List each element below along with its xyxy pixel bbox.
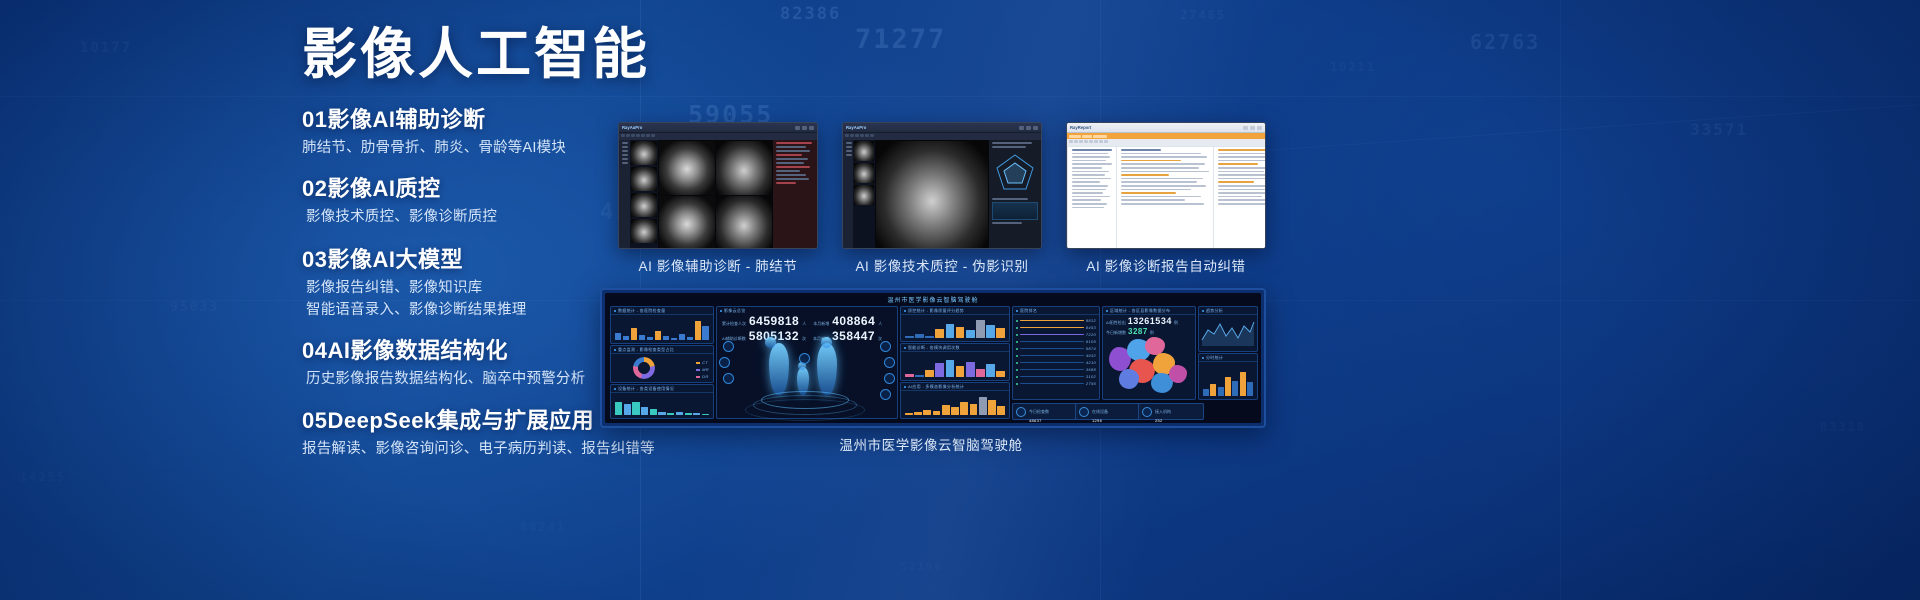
hospital-icon (1142, 407, 1152, 417)
feature-label-01: 影像AI辅助诊断 (327, 107, 485, 132)
dash-card-multimodal[interactable]: AI应用 - 多模态影像分析统计 (900, 382, 1010, 419)
radar-chart-icon (992, 151, 1038, 195)
hologram-adult-left (769, 343, 789, 395)
device-icon (1079, 407, 1089, 417)
ct-image-grid-1[interactable] (658, 140, 773, 249)
bg-digit: 52190 (900, 560, 943, 573)
ai-findings-panel-1[interactable] (773, 140, 817, 249)
app-toolbar-1[interactable] (619, 133, 817, 140)
bg-digit: 03318 (1820, 420, 1866, 434)
card-title: 设备统计 - 各类设备使用情况 (618, 386, 674, 392)
report-toolbar-3[interactable] (1067, 139, 1265, 146)
window-buttons-3[interactable] (1243, 126, 1262, 130)
bg-digit: 88241 (520, 520, 566, 534)
card-title: 医院排名 (1020, 308, 1037, 314)
worklist-panel-3[interactable] (1068, 147, 1116, 249)
card-header: 数据统计 - 各医院检查量 (611, 307, 713, 315)
bg-digit: 95033 (170, 300, 219, 315)
card-header: 重点监测 - 影像检查类型占比 (611, 346, 713, 354)
bg-digit: 10177 (80, 40, 132, 56)
bg-digit: 10211 (1330, 60, 1376, 74)
window-buttons-2[interactable] (1019, 126, 1038, 130)
kpi-value: 13261534 (1128, 316, 1172, 326)
card-title: 区域统计 - 各区县影像数据分布 (1110, 308, 1170, 314)
footer-stat-3[interactable]: 接入机构 252 (1138, 403, 1204, 420)
dash-card-exam-type-share[interactable]: 重点监测 - 影像检查类型占比 CT MR DR (610, 345, 714, 383)
list-item[interactable]: 3102 (1013, 373, 1099, 380)
card-header: 影像云总览 (717, 307, 897, 314)
card-header: 医院排名 (1013, 307, 1099, 315)
footer-stat-1[interactable]: 今日检查数 48637 (1012, 403, 1078, 420)
card-title: AI应用 - 多模态影像分析统计 (908, 384, 964, 390)
screenshot-caption-2: AI 影像技术质控 - 伪影识别 (842, 255, 1042, 275)
card-header: 区域统计 - 各区县影像数据分布 (1103, 307, 1195, 315)
app-logo-2: RayAuPro (846, 125, 866, 130)
footer-stat-value: 48637 (1029, 418, 1049, 423)
app-logo-1: RayAuPro (622, 125, 642, 130)
hologram-adult-right (817, 343, 837, 395)
footer-stat-label: 接入机构 (1155, 409, 1171, 414)
feature-label-04: AI影像数据结构化 (327, 338, 508, 363)
ai-kpi-row-2: 今日新增数 3287 例 (1103, 327, 1195, 336)
qc-analysis-panel-2[interactable] (989, 140, 1041, 249)
page-title: 影像人工智能 (302, 26, 722, 82)
list-item[interactable]: 5874 (1013, 345, 1099, 352)
screenshot-caption-3: AI 影像诊断报告自动纠错 (1066, 255, 1266, 275)
series-thumbnails-2[interactable] (853, 140, 875, 249)
bg-digit: 33571 (1690, 120, 1748, 139)
feature-number-03: 03 (302, 247, 327, 272)
kpi-label: 今日新增数 (1106, 330, 1126, 336)
ct-slice-3d[interactable] (716, 196, 772, 249)
screenshot-image-2: RayAuPro (842, 122, 1042, 249)
ct-slice-sagittal[interactable] (659, 196, 715, 249)
screenshot-card-1[interactable]: RayAuPro (618, 122, 818, 249)
kpi-label: 累计检查人次 (722, 321, 746, 327)
kpi-value: 3287 (1128, 327, 1148, 336)
correction-panel-3[interactable] (1214, 147, 1266, 249)
feature-number-04: 04 (302, 338, 327, 363)
card-title: 重点监测 - 影像检查类型占比 (618, 347, 674, 353)
dash-card-secondary-bars[interactable]: 分时统计 (1198, 353, 1258, 400)
metric-icon-4[interactable] (880, 341, 891, 352)
list-item[interactable]: 8453 (1013, 324, 1099, 331)
app-titlebar-1: RayAuPro (619, 123, 817, 133)
window-buttons-1[interactable] (795, 126, 814, 130)
bar-chart (905, 318, 1005, 338)
list-item[interactable]: 2756 (1013, 380, 1099, 387)
bar-chart (905, 355, 1005, 377)
footer-stat-label: 今日检查数 (1029, 409, 1049, 414)
kpi-unit: 例 (1150, 330, 1154, 336)
kpi-unit: 人 (802, 321, 806, 327)
metric-icon-7[interactable] (880, 389, 891, 400)
region-map[interactable] (1107, 337, 1191, 395)
metric-icon-3[interactable] (723, 373, 734, 384)
card-header: 设备统计 - 各类设备使用情况 (611, 385, 713, 393)
feature-label-03: 影像AI大模型 (327, 247, 463, 272)
dash-card-module-calls[interactable]: 智能诊断 - 各模块调用次数 (900, 343, 1010, 381)
dashboard-screen[interactable]: 温州市医学影像云智脑驾驶舱 数据统计 - 各医院检查量 重点监测 - 影像检查类… (605, 293, 1261, 423)
metric-icon-5[interactable] (884, 357, 895, 368)
screenshot-card-3[interactable]: RayReport (1066, 122, 1266, 249)
bar-chart (615, 318, 709, 340)
dashboard-card[interactable]: 温州市医学影像云智脑驾驶舱 数据统计 - 各医院检查量 重点监测 - 影像检查类… (600, 288, 1266, 428)
bar-chart (1203, 365, 1253, 396)
hologram-figure-group (717, 339, 897, 417)
footer-stat-value: 1296 (1092, 418, 1108, 423)
dashboard-bezel: 温州市医学影像云智脑驾驶舱 数据统计 - 各医院检查量 重点监测 - 影像检查类… (600, 288, 1266, 428)
dash-card-device-usage[interactable]: 设备统计 - 各类设备使用情况 (610, 384, 714, 419)
feature-number-01: 01 (302, 107, 327, 132)
footer-stat-2[interactable]: 在线设备 1296 (1075, 403, 1141, 420)
hologram-ring-3 (745, 399, 865, 421)
dashboard-caption: 温州市医学影像云智脑驾驶舱 (600, 434, 1262, 454)
dash-card-overview[interactable]: 影像云总览 累计检查人次 6459818 人 本月新增 408864 人 AI辅… (716, 306, 898, 419)
bg-digit: 71277 (855, 24, 946, 55)
card-header: 分时统计 (1199, 354, 1257, 362)
card-header: 智能诊断 - 各模块调用次数 (901, 344, 1009, 352)
list-item[interactable]: 6105 (1013, 338, 1099, 345)
metric-icon-center[interactable] (799, 353, 810, 364)
dash-card-trend-line[interactable]: 趋势分析 (1198, 306, 1258, 352)
screenshot-card-2[interactable]: RayAuPro (842, 122, 1042, 249)
metric-icon-6[interactable] (884, 373, 895, 384)
footer-stat-label: 在线设备 (1092, 409, 1108, 414)
screenshot-image-3: RayReport (1066, 122, 1266, 249)
dashboard-screen-title: 温州市医学影像云智脑驾驶舱 (605, 295, 1261, 304)
metric-icon-1[interactable] (723, 341, 734, 352)
card-header: AI应用 - 多模态影像分析统计 (901, 383, 1009, 391)
dash-card-quality-trend[interactable]: 质控统计 - 影像质量评分趋势 (900, 306, 1010, 342)
left-tool-rail-1[interactable] (619, 140, 630, 249)
dash-card-region-map[interactable]: 区域统计 - 各区县影像数据分布 AI阳性检出 13261534 例 今日新增数… (1102, 306, 1196, 400)
kpi-label: 本月新增 (813, 321, 829, 327)
app-titlebar-2: RayAuPro (843, 123, 1041, 133)
card-header: 趋势分析 (1199, 307, 1257, 315)
app-toolbar-2[interactable] (843, 133, 1041, 140)
app-titlebar-3: RayReport (1067, 123, 1265, 133)
app-logo-3: RayReport (1070, 125, 1091, 130)
bg-digit: 62763 (1470, 30, 1540, 54)
donut-chart (633, 357, 655, 379)
feature-number-02: 02 (302, 176, 327, 201)
kpi-unit: 人 (878, 321, 882, 327)
bg-digit: 14255 (20, 470, 66, 484)
hologram-head-left (765, 337, 776, 348)
report-text-panel-3[interactable] (1117, 147, 1213, 249)
card-title: 智能诊断 - 各模块调用次数 (908, 345, 960, 351)
ct-slice-coronal[interactable] (716, 141, 772, 195)
series-thumbnails-1[interactable] (630, 140, 658, 249)
kpi-value: 408864 (832, 314, 875, 328)
card-title: 数据统计 - 各医院检查量 (618, 308, 665, 314)
list-item[interactable]: 4932 (1013, 352, 1099, 359)
ct-main-view-2[interactable] (875, 140, 989, 249)
list-item[interactable]: 7220 (1013, 331, 1099, 338)
lung-icon (1016, 407, 1026, 417)
screenshot-caption-1: AI 影像辅助诊断 - 肺结节 (618, 255, 818, 275)
metric-icon-2[interactable] (719, 357, 730, 368)
kpi-row-1: 累计检查人次 6459818 人 本月新增 408864 人 (717, 314, 897, 328)
bar-chart (905, 394, 1005, 415)
screenshot-image-1: RayAuPro (618, 122, 818, 249)
kpi-label: AI阳性检出 (1106, 320, 1126, 326)
bg-digit: 27465 (1180, 8, 1226, 22)
ai-kpi-row: AI阳性检出 13261534 例 (1103, 315, 1195, 327)
dash-card-hospital-ranking[interactable]: 医院排名 9812 8453 7220 6105 5874 4932 4210 … (1012, 306, 1100, 400)
list-item[interactable]: 3688 (1013, 366, 1099, 373)
card-header: 质控统计 - 影像质量评分趋势 (901, 307, 1009, 315)
card-title: 质控统计 - 影像质量评分趋势 (908, 308, 964, 314)
bg-digit: 82386 (780, 4, 841, 24)
line-chart (1200, 316, 1256, 348)
list-item[interactable]: 9812 (1013, 317, 1099, 324)
kpi-value: 6459818 (749, 314, 799, 328)
kpi-unit: 例 (1174, 320, 1178, 326)
hologram-head-right (821, 337, 832, 348)
left-tool-rail-2[interactable] (843, 140, 853, 249)
ranking-list[interactable]: 9812 8453 7220 6105 5874 4932 4210 3688 … (1013, 315, 1099, 387)
legend: CT MR DR (696, 360, 709, 379)
banner-stage: 82386 71277 59055 62763 41271 33571 1017… (0, 0, 1920, 600)
dash-card-hospital-volume[interactable]: 数据统计 - 各医院检查量 (610, 306, 714, 344)
feature-number-05: 05 (302, 408, 327, 433)
footer-stat-value: 252 (1155, 418, 1171, 423)
bar-chart (615, 396, 709, 415)
list-item[interactable]: 4210 (1013, 359, 1099, 366)
ct-slice-axial[interactable] (659, 141, 715, 195)
feature-label-05: DeepSeek集成与扩展应用 (327, 408, 594, 433)
feature-label-02: 影像AI质控 (327, 176, 440, 201)
